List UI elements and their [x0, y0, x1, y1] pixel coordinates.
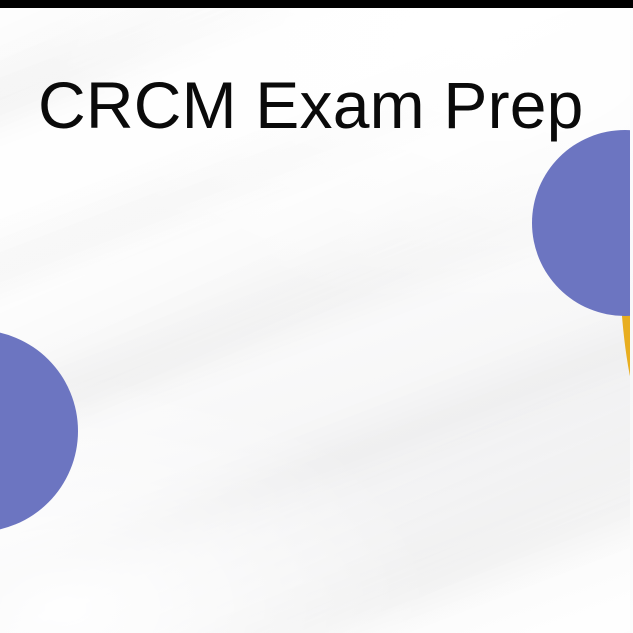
slide-title: CRCM Exam Prep [38, 72, 584, 138]
top-black-bar [0, 0, 633, 8]
presentation-slide: CRCM Exam Prep [0, 0, 633, 633]
